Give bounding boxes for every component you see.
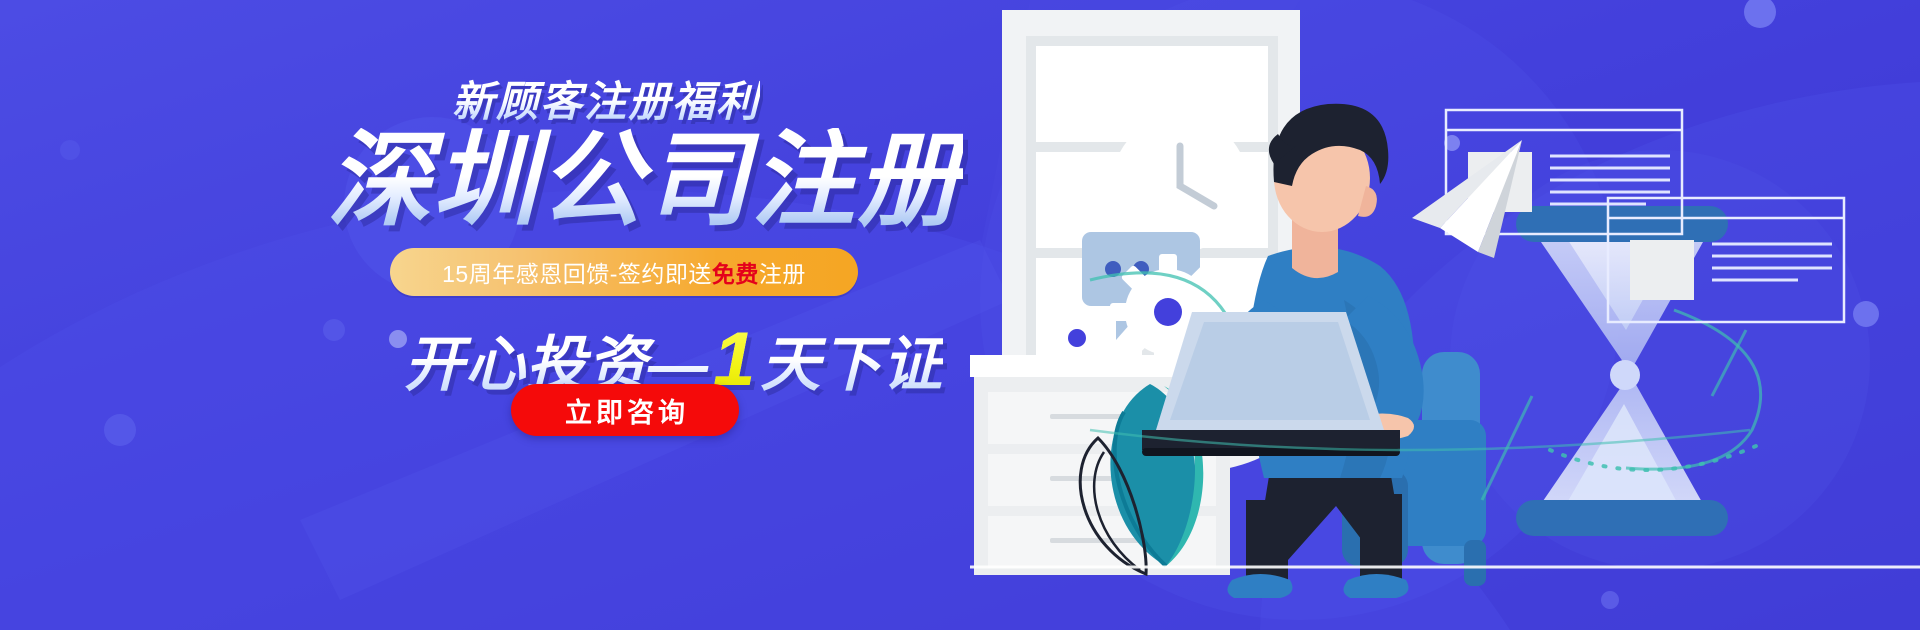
paper-plane-icon (1412, 140, 1522, 258)
page-title: 深圳公司注册 (327, 128, 963, 234)
banner-copy: 新顾客注册福利 深圳公司注册 15周年感恩回馈-签约即送免费注册 开心投资—1天… (0, 0, 980, 630)
hero-illustration (970, 0, 1920, 630)
clock-icon-group (1112, 116, 1248, 252)
consult-now-button[interactable]: 立即咨询 (511, 384, 739, 436)
promo-highlight: 免费 (712, 261, 759, 287)
promo-badge-text: 15周年感恩回馈-签约即送免费注册 (442, 255, 806, 289)
eyebrow-text: 新顾客注册福利 (452, 68, 760, 129)
promo-badge: 15周年感恩回馈-签约即送免费注册 (390, 248, 858, 296)
promo-suffix: 注册 (759, 261, 806, 287)
illustration-svg (970, 0, 1920, 630)
sub-headline-after: 天下证 (760, 331, 943, 398)
promo-banner: 新顾客注册福利 深圳公司注册 15周年感恩回馈-签约即送免费注册 开心投资—1天… (0, 0, 1920, 630)
promo-prefix: 15周年感恩回馈-签约即送 (442, 261, 712, 287)
consult-now-label: 立即咨询 (561, 391, 689, 430)
